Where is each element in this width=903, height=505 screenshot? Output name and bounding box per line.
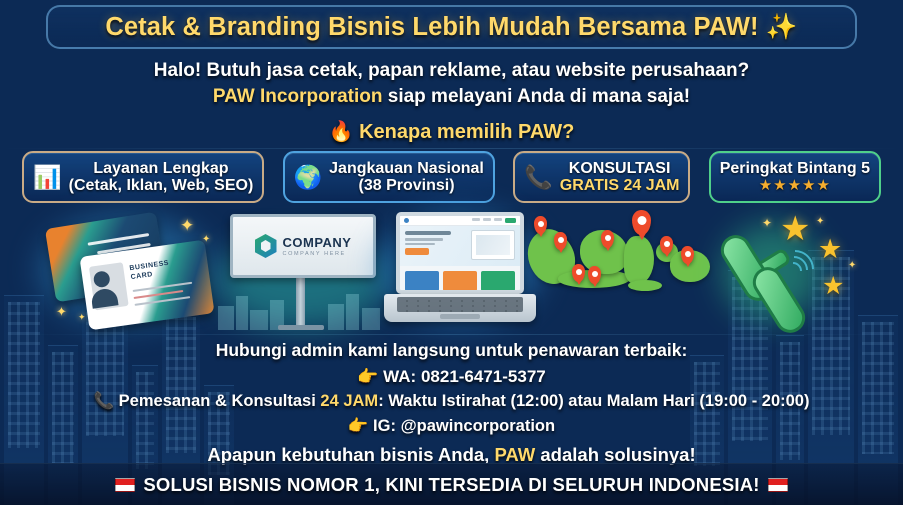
indonesia-map-illustration [528, 208, 710, 333]
subtitle-line-2: PAW Incorporation siap melayani Anda di … [0, 86, 903, 108]
map-pin [681, 246, 694, 264]
feature-card [405, 271, 439, 291]
brand-name: PAW Incorporation [213, 86, 383, 107]
whatsapp-number[interactable]: 0821-6471-5377 [421, 367, 546, 386]
website-navbar [400, 216, 520, 226]
rating-stars-icon: ★★★★★ [759, 177, 831, 194]
feature-pill-peringkat-bintang[interactable]: Peringkat Bintang 5 ★★★★★ [709, 151, 881, 203]
island-sulawesi [624, 236, 654, 284]
closing-prefix: Apapun kebutuhan bisnis Anda, [207, 444, 494, 465]
website-feature-cards [400, 266, 520, 294]
map-pin [554, 232, 567, 250]
feature-pill-row: 📊 Layanan Lengkap (Cetak, Iklan, Web, SE… [22, 151, 881, 203]
whatsapp-label: WA: [383, 367, 416, 386]
sparkle-icon: ✦ [762, 216, 772, 230]
instagram-handle[interactable]: @pawincorporation [401, 417, 556, 435]
phone-receiver-icon: 📞 [94, 392, 115, 410]
map-pin-primary [632, 210, 651, 235]
hero-cta-button [405, 248, 429, 255]
feature-pill-konsultasi-gratis[interactable]: 📞 KONSULTASI GRATIS 24 JAM [513, 151, 690, 203]
laptop-trackpad [440, 314, 480, 319]
pointing-finger-icon: 👉 [357, 367, 378, 386]
hero-preview-image [471, 230, 515, 260]
card-label-line-1: BUSINESS [129, 260, 169, 272]
feature-line-1: Layanan Lengkap [93, 160, 228, 177]
billboard-post [296, 276, 305, 328]
feature-line-2: (38 Provinsi) [359, 177, 455, 194]
section-heading: 🔥 Kenapa memilih PAW? [0, 119, 903, 144]
sparkle-icon: ✦ [816, 216, 824, 227]
closing-brand: PAW [494, 444, 535, 465]
laptop-screen [396, 212, 524, 294]
sparkle-icon: ✦ [202, 234, 210, 245]
feature-card [443, 271, 477, 291]
nav-cta-button [505, 218, 516, 223]
indonesia-flag-icon [768, 478, 788, 492]
business-card-front: BUSINESS CARD [79, 240, 214, 331]
subtitle-line-1: Halo! Butuh jasa cetak, papan reklame, a… [0, 60, 903, 82]
billboard-panel: COMPANY COMPANY HERE [230, 214, 376, 278]
banner-title-box: Cetak & Branding Bisnis Lebih Mudah Bers… [46, 5, 857, 49]
subtitle-line-2-rest: siap melayani Anda di mana saja! [382, 86, 690, 107]
feature-line-2: GRATIS 24 JAM [560, 177, 680, 194]
order-suffix: : Waktu Istirahat (12:00) atau Malam Har… [378, 392, 809, 410]
feature-pill-layanan-lengkap[interactable]: 📊 Layanan Lengkap (Cetak, Iklan, Web, SE… [22, 151, 264, 203]
laptop-keyboard-base [384, 294, 536, 322]
feature-line-1: Jangkauan Nasional [329, 160, 484, 177]
instagram-label: IG: [373, 417, 396, 435]
company-logo-icon [255, 234, 277, 258]
sparkle-icon: ✦ [848, 260, 856, 271]
website-hero [400, 226, 520, 266]
instagram-line[interactable]: 👉 IG: @pawincorporation [0, 417, 903, 436]
site-logo-icon [404, 218, 409, 223]
laptop-website-illustration [384, 208, 536, 333]
rating-star-icon: ★ [818, 236, 842, 263]
whatsapp-line[interactable]: 👉 WA: 0821-6471-5377 [0, 367, 903, 387]
island-nusa-tenggara [628, 280, 662, 291]
order-prefix: Pemesanan & Konsultasi [119, 392, 321, 410]
indonesia-flag-icon [115, 478, 135, 492]
business-card-label: BUSINESS CARD [129, 259, 171, 283]
pointing-finger-icon: 👉 [348, 417, 369, 435]
sparkle-icon: ✦ [180, 216, 194, 236]
laptop-keys [397, 297, 523, 312]
rating-star-icon: ★ [780, 212, 810, 246]
feature-line-2: (Cetak, Iklan, Web, SEO) [69, 177, 254, 194]
fire-icon: 🔥 [329, 121, 354, 143]
feature-pill-text: Peringkat Bintang 5 ★★★★★ [720, 160, 870, 195]
card-label-line-2: CARD [130, 272, 153, 282]
contact-heading: Hubungi admin kami langsung untuk penawa… [0, 340, 903, 361]
feature-pill-text: KONSULTASI GRATIS 24 JAM [560, 160, 680, 195]
rating-star-icon: ★ [822, 274, 844, 299]
feature-pill-jangkauan-nasional[interactable]: 🌍 Jangkauan Nasional (38 Provinsi) [283, 151, 495, 203]
section-heading-label: Kenapa memilih PAW? [359, 121, 574, 143]
map-pin [588, 266, 601, 284]
billboard-company-tagline: COMPANY HERE [283, 251, 352, 257]
feature-pill-text: Layanan Lengkap (Cetak, Iklan, Web, SEO) [69, 160, 254, 195]
footer-banner: SOLUSI BISNIS NOMOR 1, KINI TERSEDIA DI … [0, 463, 903, 505]
billboard-text: COMPANY COMPANY HERE [283, 235, 352, 257]
order-highlight: 24 JAM [320, 392, 378, 410]
promo-banner: Cetak & Branding Bisnis Lebih Mudah Bers… [0, 0, 903, 505]
billboard-company-name: COMPANY [283, 235, 352, 250]
footer-text: SOLUSI BISNIS NOMOR 1, KINI TERSEDIA DI … [143, 474, 759, 496]
nav-links [472, 218, 516, 223]
globe-icon: 🌍 [294, 166, 323, 189]
page-title: Cetak & Branding Bisnis Lebih Mudah Bers… [105, 12, 797, 42]
phone-chat-icon: 📞 [524, 166, 553, 189]
phone-rating-illustration: ★ ★ ★ ✦ ✦ ✦ [718, 208, 888, 333]
map-pin [601, 230, 614, 248]
feature-line-1: KONSULTASI [569, 160, 671, 177]
order-hours-line: 📞 Pemesanan & Konsultasi 24 JAM: Waktu I… [0, 392, 903, 411]
map-pin [534, 216, 547, 234]
hand-chart-icon: 📊 [33, 166, 62, 189]
feature-card [481, 271, 515, 291]
feature-line-1: Peringkat Bintang 5 [720, 160, 870, 177]
billboard-base [278, 325, 324, 330]
sparkle-icon: ✦ [78, 312, 86, 323]
map-pin [660, 236, 673, 254]
business-card-illustration: BUSINESS CARD ✦ ✦ ✦ ✦ [34, 208, 219, 333]
map-pin [572, 264, 585, 282]
closing-suffix: adalah solusinya! [535, 444, 695, 465]
feature-pill-text: Jangkauan Nasional (38 Provinsi) [329, 160, 484, 195]
billboard-illustration: COMPANY COMPANY HERE [216, 208, 388, 333]
sparkle-icon: ✦ [56, 304, 67, 320]
illustration-row: BUSINESS CARD ✦ ✦ ✦ ✦ [0, 208, 903, 333]
